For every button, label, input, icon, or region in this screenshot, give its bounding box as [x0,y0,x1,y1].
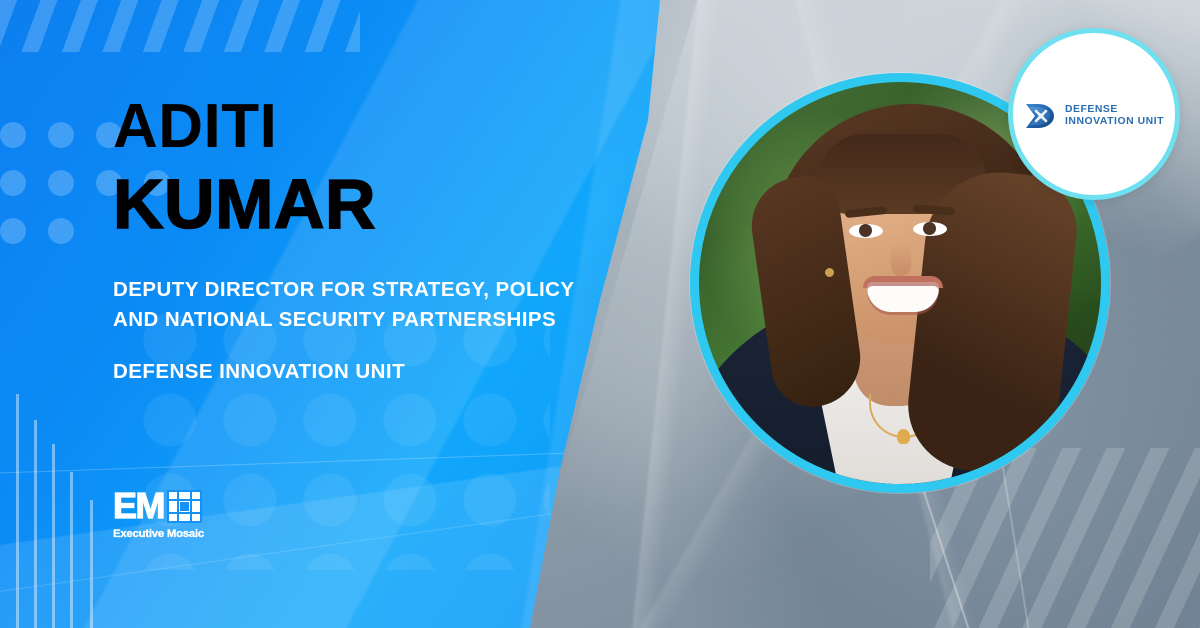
person-last-name: KUMAR [113,169,673,239]
person-title: DEPUTY DIRECTOR FOR STRATEGY, POLICY AND… [113,275,673,334]
person-first-name: ADITI [113,96,673,158]
diu-logo-line-1: DEFENSE [1065,104,1164,116]
diu-d-arrow-logo-icon [1024,100,1058,132]
portrait-iris-left [859,224,872,237]
diu-logo-line-2: INNOVATION UNIT [1065,116,1164,128]
em-logo-row: EM [113,489,217,525]
leadership-announcement-card: ADITI KUMAR DEPUTY DIRECTOR FOR STRATEGY… [0,0,1200,628]
mosaic-grid-icon [167,490,202,523]
portrait-iris-right [923,222,936,235]
person-title-line-1: DEPUTY DIRECTOR FOR STRATEGY, POLICY [113,275,673,305]
em-monogram: EM [113,489,164,522]
diu-logo-inner: DEFENSE INNOVATION UNIT [1024,100,1164,132]
portrait-smile-teeth [867,282,939,312]
top-stripes-decoration [0,0,360,52]
text-block: ADITI KUMAR DEPUTY DIRECTOR FOR STRATEGY… [113,96,673,384]
executive-mosaic-logo[interactable]: EM Executive Mosaic [113,489,217,540]
diu-logo-badge[interactable]: DEFENSE INNOVATION UNIT [1008,28,1180,200]
portrait-earring [825,268,834,277]
em-caption: Executive Mosaic [113,528,217,540]
diu-logo-text: DEFENSE INNOVATION UNIT [1065,104,1164,129]
person-title-line-2: AND NATIONAL SECURITY PARTNERSHIPS [113,305,673,335]
portrait-nose [891,242,911,276]
portrait-pendant [897,429,910,444]
person-organization: DEFENSE INNOVATION UNIT [113,360,673,384]
